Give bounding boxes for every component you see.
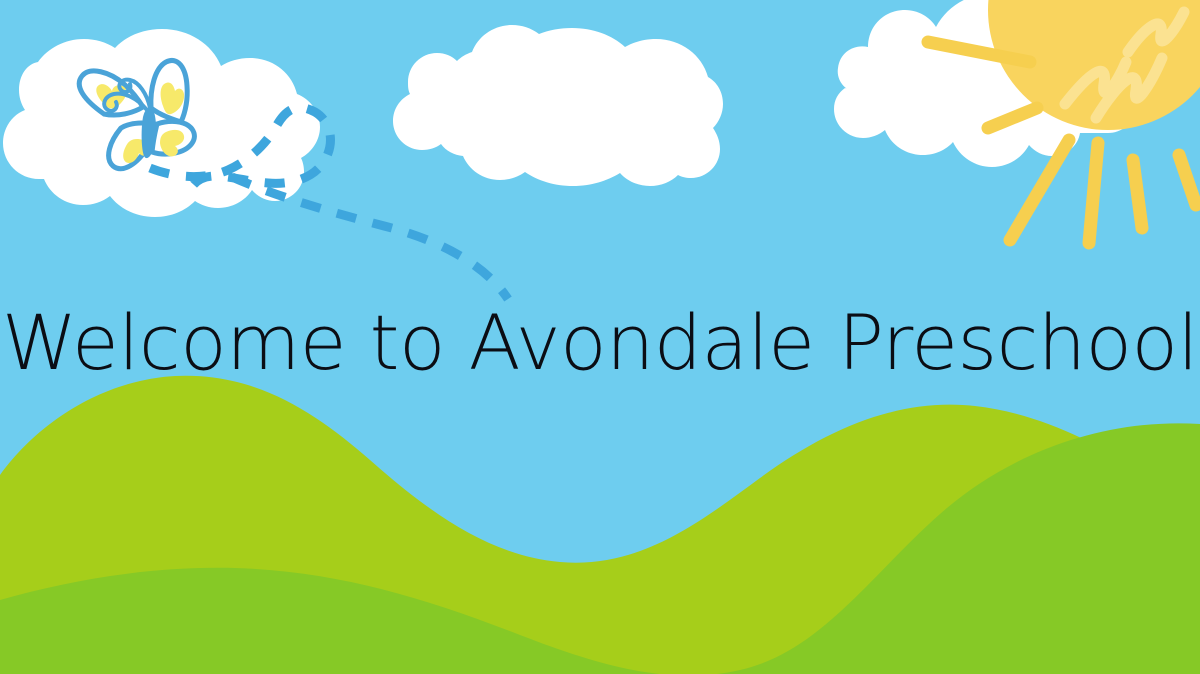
illustration-scene — [0, 0, 1200, 674]
sun-ray-4 — [1089, 143, 1098, 243]
slide-canvas: Welcome to Avondale Preschool — [0, 0, 1200, 674]
sun-ray-5 — [1133, 160, 1142, 228]
